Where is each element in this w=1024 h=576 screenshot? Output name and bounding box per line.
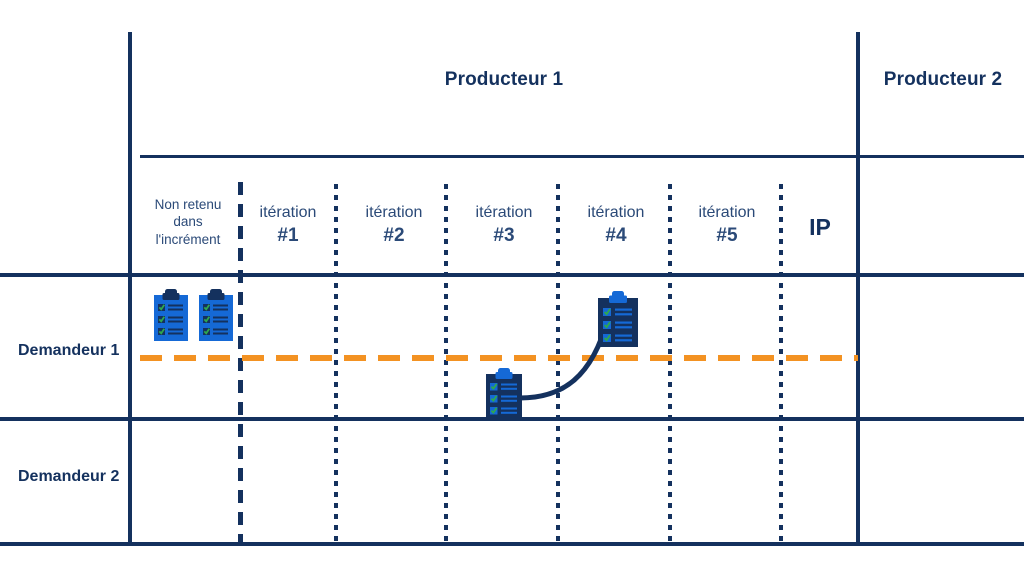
priority-threshold-line xyxy=(140,355,858,361)
grid-vline-iteration-5-ip xyxy=(779,184,783,546)
column-header-word: itération xyxy=(458,203,550,223)
grid-hline-column-header xyxy=(0,273,1024,277)
grid-vline-iteration-2-3 xyxy=(444,184,448,546)
clipboard-icon-backlog-item-1[interactable] xyxy=(153,289,189,341)
column-header-line-3: l'incrément xyxy=(140,231,236,248)
row-label-demandeur-2: Demandeur 2 xyxy=(18,468,119,486)
column-header-word: itération xyxy=(242,203,334,223)
grid-vline-iteration-1-2 xyxy=(334,184,338,546)
column-header-iteration-2: itération #2 xyxy=(348,203,440,247)
grid-vline-iteration-4-5 xyxy=(668,184,672,546)
column-header-line-1: Non retenu xyxy=(140,196,236,213)
column-header-iteration-3: itération #3 xyxy=(458,203,550,247)
column-header-number: IP xyxy=(785,213,855,242)
grid-hline-bottom xyxy=(0,542,1024,546)
column-header-number: #5 xyxy=(681,224,773,248)
column-header-line-2: dans xyxy=(140,213,236,230)
column-header-number: #1 xyxy=(242,224,334,248)
producer-2-title: Producteur 2 xyxy=(862,69,1024,91)
grid-vline-producer-separator xyxy=(856,32,860,546)
producer-1-title: Producteur 1 xyxy=(336,69,672,91)
grid-hline-producer-header xyxy=(140,155,1024,158)
row-label-demandeur-1: Demandeur 1 xyxy=(18,342,119,360)
column-header-iteration-5: itération #5 xyxy=(681,203,773,247)
grid-vline-left-axis xyxy=(128,32,132,546)
column-header-iteration-1: itération #1 xyxy=(242,203,334,247)
column-header-non-retenu: Non retenu dans l'incrément xyxy=(140,196,236,248)
clipboard-icon-backlog-item-2[interactable] xyxy=(198,289,234,341)
diagram-canvas: Producteur 1 Producteur 2 Demandeur 1 De… xyxy=(0,0,1024,576)
column-header-word: itération xyxy=(570,203,662,223)
column-header-word: itération xyxy=(348,203,440,223)
column-header-iteration-4: itération #4 xyxy=(570,203,662,247)
column-header-number: #4 xyxy=(570,224,662,248)
clipboard-icon-planned-item[interactable] xyxy=(485,368,523,420)
column-header-word: itération xyxy=(681,203,773,223)
column-header-ip: IP xyxy=(785,212,855,242)
column-header-number: #3 xyxy=(458,224,550,248)
clipboard-icon-delivered-item[interactable] xyxy=(597,291,639,347)
grid-vline-iteration-3-4 xyxy=(556,184,560,546)
column-header-number: #2 xyxy=(348,224,440,248)
